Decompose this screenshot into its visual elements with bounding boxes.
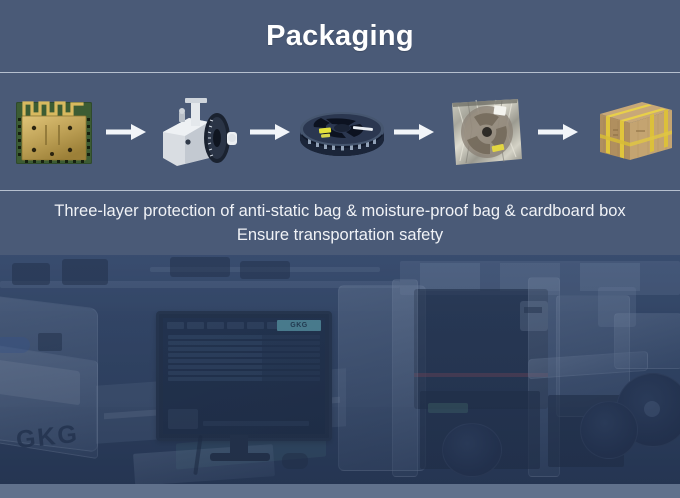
monitor-data-row	[168, 371, 320, 375]
monitor-data-row	[168, 347, 320, 351]
antistatic-bag-image	[446, 93, 526, 171]
monitor-logo-text: GKG	[290, 322, 307, 329]
process-step-tape-reel	[296, 87, 388, 177]
process-step-module	[8, 87, 100, 177]
overhead-box-1	[12, 263, 50, 285]
monitor-data-row	[168, 341, 320, 345]
component-reel-3	[442, 423, 502, 477]
caption-line-1: Three-layer protection of anti-static ba…	[54, 199, 625, 223]
arrow-1	[100, 87, 152, 177]
factory-photo-content: GKG	[0, 255, 680, 484]
monitor-data-row	[168, 335, 320, 339]
monitor-data-grid	[168, 335, 320, 387]
printer-indicator-blue	[0, 337, 30, 353]
bottom-band	[0, 484, 680, 498]
monitor-data-row	[168, 359, 320, 363]
arrow-4	[532, 87, 584, 177]
monitor-data-row	[168, 365, 320, 369]
monitor-toolbar-button	[247, 322, 264, 329]
tape-reel-image	[296, 97, 388, 167]
arrow-right-icon	[106, 122, 146, 142]
factory-photo: GKG	[0, 255, 680, 484]
gantry-nozzle	[524, 307, 542, 313]
monitor-preview-panel	[168, 409, 198, 429]
monitor-toolbar-button	[207, 322, 224, 329]
tape-and-reel-machine-image	[155, 92, 241, 172]
printer-display	[38, 333, 62, 351]
operator-monitor: GKG	[156, 311, 332, 441]
pcb-module-image	[12, 92, 96, 172]
page-title: Packaging	[266, 22, 414, 51]
arrow-2	[244, 87, 296, 177]
process-step-antistatic-bag	[440, 87, 532, 177]
monitor-data-row	[168, 377, 320, 381]
caption-block: Three-layer protection of anti-static ba…	[0, 191, 680, 255]
component-reel-hub	[644, 401, 660, 417]
monitor-data-row	[168, 353, 320, 357]
monitor-toolbar-button	[167, 322, 184, 329]
component-reel-2	[580, 401, 638, 459]
mouse	[282, 453, 308, 469]
arrow-3	[388, 87, 440, 177]
overhead-box-4	[240, 261, 290, 279]
gantry-head	[520, 301, 548, 331]
caption-line-2: Ensure transportation safety	[237, 223, 443, 247]
window-pane-1	[420, 263, 480, 291]
monitor-toolbar-button	[187, 322, 204, 329]
arrow-right-icon	[538, 122, 578, 142]
monitor-gkg-logo: GKG	[277, 320, 321, 331]
title-band: Packaging	[0, 0, 680, 72]
monitor-stand-base	[210, 453, 270, 461]
overhead-box-3	[170, 257, 230, 277]
monitor-button-bar	[203, 421, 309, 426]
monitor-toolbar-button	[227, 322, 244, 329]
packaging-process-flow	[0, 73, 680, 190]
feeder-green-tag	[428, 403, 468, 413]
overhead-box-2	[62, 259, 108, 285]
cardboard-box-image	[584, 96, 676, 168]
arrow-right-icon	[394, 122, 434, 142]
monitor-screen: GKG	[163, 318, 325, 434]
arrow-right-icon	[250, 122, 290, 142]
packaging-banner: Packaging	[0, 0, 680, 498]
machine-top-module	[598, 287, 636, 327]
pnp-machine-frame-post	[392, 279, 418, 477]
process-step-taping-machine	[152, 87, 244, 177]
process-step-carton	[584, 87, 676, 177]
